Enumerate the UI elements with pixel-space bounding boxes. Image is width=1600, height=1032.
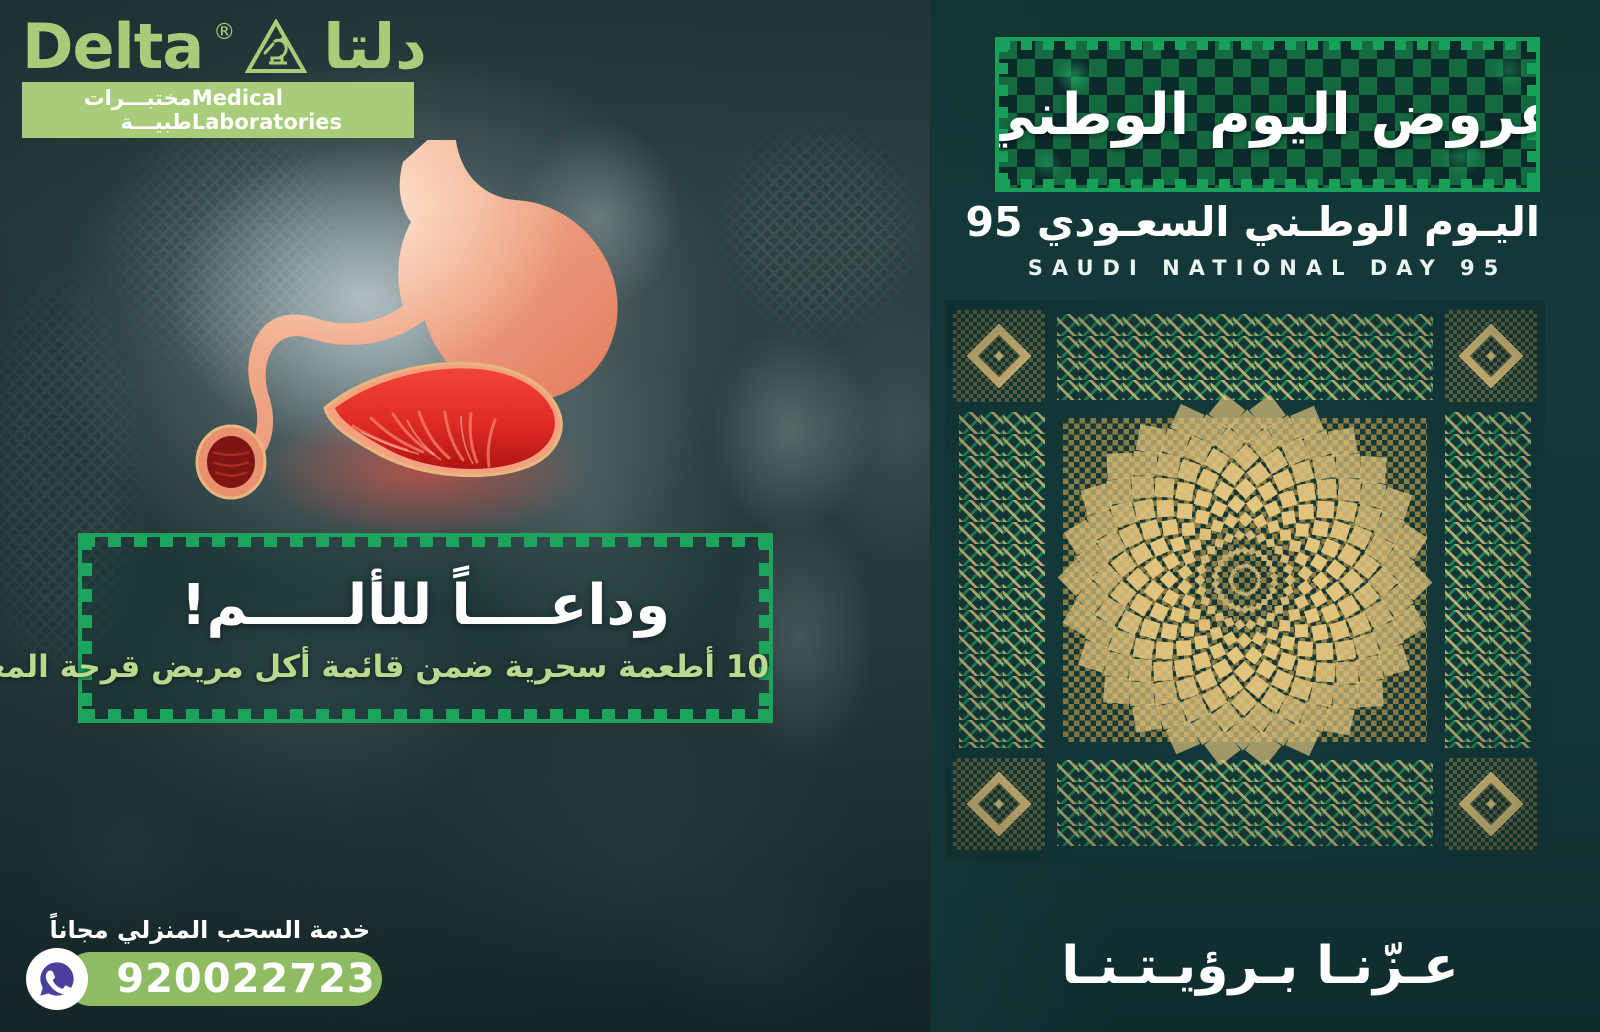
contact-block: خدمة السحب المنزلي مجاناً 920022723 [26,916,386,1010]
sadu-band-right [1445,412,1531,748]
brand-tagline-ar: مختبـــرات طبيـــة [34,86,192,134]
promo-message-box: وداعــــاً للألـــــم! 10 أطعمة سحرية ضم… [78,533,773,723]
sadu-corner-diamond-bottom-right [1445,758,1537,850]
msg-teeth-top [82,537,769,547]
brand-tagline-en: Medical Laboratories [192,86,402,134]
promo-headline: وداعــــاً للألـــــم! [82,573,769,638]
national-day-arabic-title: اليـوم الوطـني السعـودي 95 [995,198,1540,246]
phone-number[interactable]: 920022723 [70,956,376,1002]
sadu-band-left [959,412,1045,748]
home-service-label: خدمة السحب المنزلي مجاناً [26,916,386,944]
national-day-slogan: عـزّنـا بـرؤيـتـنـا [980,936,1540,996]
stomach-anatomy-cross-section-icon [175,140,635,540]
brand-name-ar: دلتا [323,16,427,78]
microscope-triangle-icon [245,19,307,75]
sadu-corner-diamond-bottom-left [953,758,1045,850]
brand-logo-row: Delta ® دلتا [14,16,414,78]
brand-tagline-bar: Medical Laboratories مختبـــرات طبيـــة [22,82,414,138]
sadu-corner-diamond-top-right [1445,310,1537,402]
sadu-inner-checker-frame [1063,418,1427,742]
phone-pill[interactable]: 920022723 [64,952,382,1006]
sadu-band-top [1057,314,1433,400]
whatsapp-icon[interactable] [26,948,88,1010]
promo-subheadline: 10 أطعمة سحرية ضمن قائمة أكل مريض قرحة ا… [82,649,769,685]
brand-logo[interactable]: Delta ® دلتا Medical Laboratories مختبــ… [14,16,414,138]
national-day-english-title: SAUDI NATIONAL DAY 95 [995,256,1540,280]
msg-teeth-bottom [82,709,769,719]
stomach-illustration [175,140,635,540]
brand-name-en: Delta [22,16,203,78]
sadu-corner-diamond-top-left [953,310,1045,402]
sadu-band-bottom [1057,760,1433,846]
national-day-banner-title: عروض اليوم الوطني [999,41,1536,188]
sadu-gold-rosette-icon [1065,400,1425,760]
national-day-banner: عروض اليوم الوطني [995,37,1540,192]
registered-mark-icon: ® [213,20,235,45]
poster-canvas: عروض اليوم الوطني اليـوم الوطـني السعـود… [0,0,1600,1032]
phone-row[interactable]: 920022723 [26,948,386,1010]
sadu-pattern-panel [945,300,1545,860]
